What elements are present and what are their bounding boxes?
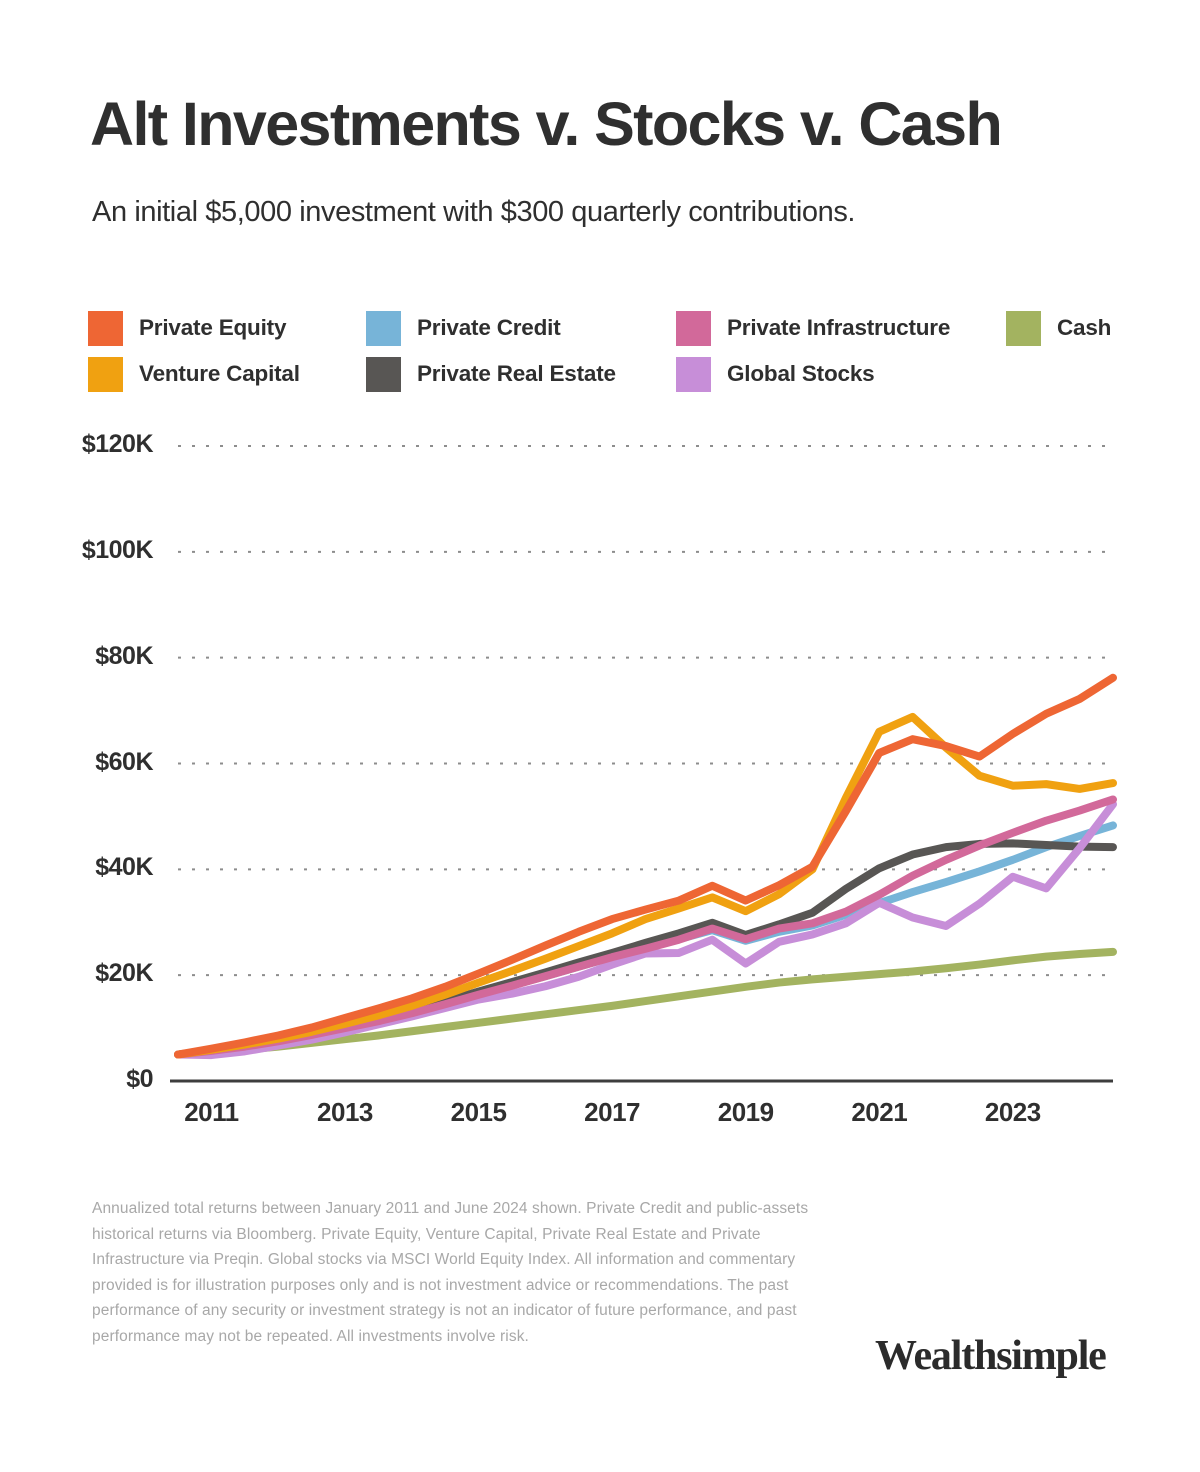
x-axis-tick-label: 2021 [834,1097,924,1128]
legend-label-private-credit: Private Credit [417,315,561,341]
series-line-private-real-estate [178,843,1113,1054]
page-title: Alt Investments v. Stocks v. Cash [90,92,1001,156]
legend-label-private-equity: Private Equity [139,315,286,341]
x-axis-tick-label: 2017 [567,1097,657,1128]
footnote-text: Annualized total returns between January… [92,1196,814,1349]
series-line-private-credit [178,825,1113,1054]
legend-item-cash[interactable]: Cash [1006,311,1111,346]
legend-item-private-equity[interactable]: Private Equity [88,311,366,346]
legend-swatch-cash [1006,311,1041,346]
y-axis-tick-label: $40K [43,853,153,882]
x-axis-tick-label: 2011 [166,1097,256,1128]
legend-item-private-real-estate[interactable]: Private Real Estate [366,357,676,392]
y-axis-tick-label: $120K [43,430,153,459]
chart-legend: Private Equity Private Credit Private In… [88,305,1148,397]
legend-swatch-venture-capital [88,357,123,392]
series-line-venture-capital [178,717,1113,1055]
legend-item-private-credit[interactable]: Private Credit [366,311,676,346]
x-axis-tick-label: 2013 [300,1097,390,1128]
legend-swatch-private-equity [88,311,123,346]
y-axis-tick-label: $60K [43,748,153,777]
legend-swatch-global-stocks [676,357,711,392]
legend-label-global-stocks: Global Stocks [727,361,874,387]
legend-label-cash: Cash [1057,315,1111,341]
legend-label-private-real-estate: Private Real Estate [417,361,616,387]
legend-item-venture-capital[interactable]: Venture Capital [88,357,366,392]
series-line-private-infrastructure [178,799,1113,1054]
y-axis-tick-label: $80K [43,642,153,671]
y-axis-tick-label: $100K [43,536,153,565]
page-subtitle: An initial $5,000 investment with $300 q… [92,196,855,229]
infographic-page: Alt Investments v. Stocks v. Cash An ini… [0,0,1200,1467]
series-line-private-equity [178,678,1113,1055]
series-line-cash [178,952,1113,1055]
legend-item-global-stocks[interactable]: Global Stocks [676,357,1006,392]
legend-swatch-private-real-estate [366,357,401,392]
legend-swatch-private-credit [366,311,401,346]
legend-label-private-infrastructure: Private Infrastructure [727,315,950,341]
y-axis-tick-label: $20K [43,959,153,988]
x-axis-tick-label: 2023 [968,1097,1058,1128]
legend-row-2: Venture Capital Private Real Estate Glob… [88,351,1148,397]
wealthsimple-logo: Wealthsimple [875,1332,1106,1380]
y-axis-tick-label: $0 [43,1065,153,1094]
x-axis-tick-label: 2015 [434,1097,524,1128]
x-axis-tick-label: 2019 [701,1097,791,1128]
series-line-global-stocks [178,804,1113,1055]
legend-swatch-private-infrastructure [676,311,711,346]
legend-item-private-infrastructure[interactable]: Private Infrastructure [676,311,1006,346]
legend-row-1: Private Equity Private Credit Private In… [88,305,1148,351]
legend-label-venture-capital: Venture Capital [139,361,300,387]
